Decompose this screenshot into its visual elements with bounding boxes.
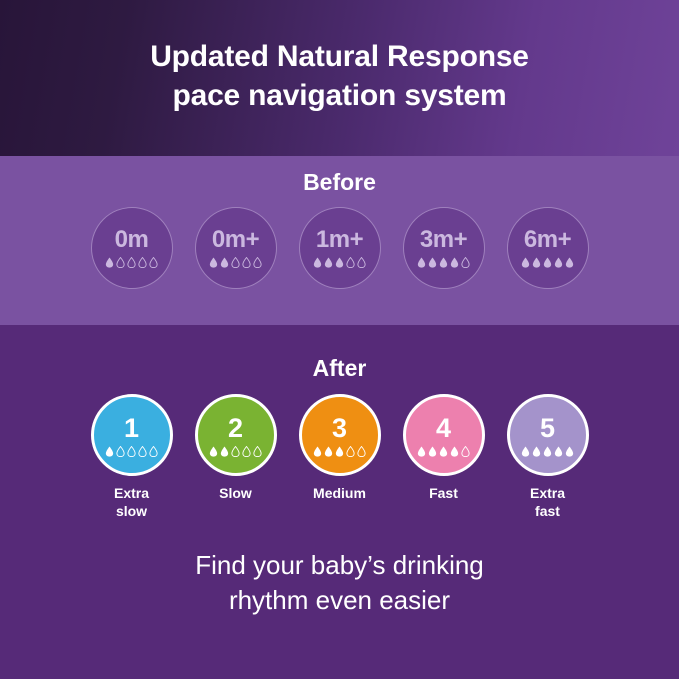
before-flow-rate-drops bbox=[521, 257, 574, 268]
droplet-filled-icon bbox=[335, 257, 344, 268]
before-flow-rate-drops bbox=[209, 257, 262, 268]
before-stage-5[interactable]: 6m+ bbox=[507, 207, 589, 289]
droplet-empty-icon bbox=[127, 257, 136, 268]
droplet-empty-icon bbox=[346, 257, 355, 268]
page-title-line-2: pace navigation system bbox=[150, 76, 529, 115]
droplet-filled-icon bbox=[105, 446, 114, 457]
before-flow-rate-drops bbox=[313, 257, 366, 268]
droplet-filled-icon bbox=[105, 257, 114, 268]
after-flow-list: 1Extraslow2Slow3Medium4Fast5Extrafast bbox=[0, 394, 679, 520]
before-stage-1[interactable]: 0m bbox=[91, 207, 173, 289]
after-stage-circle[interactable]: 2 bbox=[195, 394, 277, 476]
before-stage-age-label: 0m bbox=[115, 228, 149, 252]
before-stage-age-label: 6m+ bbox=[524, 228, 571, 252]
droplet-filled-icon bbox=[209, 446, 218, 457]
after-flow-rate-drops bbox=[209, 446, 262, 457]
droplet-empty-icon bbox=[242, 257, 251, 268]
droplet-empty-icon bbox=[357, 257, 366, 268]
droplet-empty-icon bbox=[253, 446, 262, 457]
after-stage-circle[interactable]: 3 bbox=[299, 394, 381, 476]
after-stage-circle[interactable]: 5 bbox=[507, 394, 589, 476]
after-stage-number-label: 4 bbox=[436, 415, 451, 442]
droplet-filled-icon bbox=[313, 257, 322, 268]
after-section: After 1Extraslow2Slow3Medium4Fast5Extraf… bbox=[0, 325, 679, 679]
after-stage-4[interactable]: 4Fast bbox=[403, 394, 485, 503]
before-stage-age-label: 1m+ bbox=[316, 228, 363, 252]
before-stage-circle[interactable]: 3m+ bbox=[403, 207, 485, 289]
droplet-filled-icon bbox=[335, 446, 344, 457]
footer-tagline-line-2: rhythm even easier bbox=[0, 583, 679, 618]
before-flow-list: 0m0m+1m+3m+6m+ bbox=[0, 207, 679, 289]
droplet-empty-icon bbox=[138, 257, 147, 268]
droplet-filled-icon bbox=[417, 446, 426, 457]
droplet-empty-icon bbox=[253, 257, 262, 268]
droplet-filled-icon bbox=[521, 446, 530, 457]
droplet-filled-icon bbox=[543, 446, 552, 457]
before-stage-age-label: 0m+ bbox=[212, 228, 259, 252]
after-stage-number-label: 2 bbox=[228, 415, 243, 442]
before-flow-rate-drops bbox=[417, 257, 470, 268]
after-stage-circle[interactable]: 4 bbox=[403, 394, 485, 476]
droplet-filled-icon bbox=[521, 257, 530, 268]
page-title-line-1: Updated Natural Response bbox=[150, 37, 529, 76]
droplet-empty-icon bbox=[231, 446, 240, 457]
after-stage-number-label: 5 bbox=[540, 415, 555, 442]
after-heading: After bbox=[0, 325, 679, 382]
before-heading: Before bbox=[0, 156, 679, 196]
droplet-empty-icon bbox=[127, 446, 136, 457]
after-flow-rate-drops bbox=[521, 446, 574, 457]
droplet-filled-icon bbox=[554, 257, 563, 268]
droplet-filled-icon bbox=[565, 446, 574, 457]
droplet-empty-icon bbox=[116, 257, 125, 268]
after-flow-rate-drops bbox=[313, 446, 366, 457]
after-stage-name-label: Medium bbox=[313, 485, 366, 503]
droplet-filled-icon bbox=[532, 257, 541, 268]
before-flow-rate-drops bbox=[105, 257, 158, 268]
droplet-empty-icon bbox=[231, 257, 240, 268]
after-stage-1[interactable]: 1Extraslow bbox=[91, 394, 173, 520]
droplet-filled-icon bbox=[450, 446, 459, 457]
before-stage-3[interactable]: 1m+ bbox=[299, 207, 381, 289]
droplet-empty-icon bbox=[149, 446, 158, 457]
before-stage-circle[interactable]: 1m+ bbox=[299, 207, 381, 289]
droplet-filled-icon bbox=[313, 446, 322, 457]
after-stage-name-label: Fast bbox=[429, 485, 458, 503]
droplet-filled-icon bbox=[220, 446, 229, 457]
before-stage-4[interactable]: 3m+ bbox=[403, 207, 485, 289]
after-stage-name-label: Slow bbox=[219, 485, 252, 503]
droplet-filled-icon bbox=[532, 446, 541, 457]
droplet-filled-icon bbox=[324, 257, 333, 268]
after-stage-name-label: Extraslow bbox=[114, 485, 149, 520]
after-flow-rate-drops bbox=[417, 446, 470, 457]
droplet-filled-icon bbox=[209, 257, 218, 268]
droplet-empty-icon bbox=[357, 446, 366, 457]
before-stage-2[interactable]: 0m+ bbox=[195, 207, 277, 289]
before-stage-circle[interactable]: 0m+ bbox=[195, 207, 277, 289]
before-stage-age-label: 3m+ bbox=[420, 228, 467, 252]
footer-tagline-line-1: Find your baby’s drinking bbox=[0, 548, 679, 583]
after-stage-name-label: Extrafast bbox=[530, 485, 565, 520]
droplet-empty-icon bbox=[242, 446, 251, 457]
page-title: Updated Natural Response pace navigation… bbox=[150, 37, 529, 119]
droplet-filled-icon bbox=[439, 257, 448, 268]
droplet-filled-icon bbox=[428, 257, 437, 268]
header-banner: Updated Natural Response pace navigation… bbox=[0, 0, 679, 156]
after-stage-circle[interactable]: 1 bbox=[91, 394, 173, 476]
droplet-empty-icon bbox=[461, 257, 470, 268]
droplet-filled-icon bbox=[543, 257, 552, 268]
droplet-filled-icon bbox=[439, 446, 448, 457]
before-section: Before 0m0m+1m+3m+6m+ bbox=[0, 156, 679, 325]
footer-tagline: Find your baby’s drinking rhythm even ea… bbox=[0, 548, 679, 617]
after-stage-number-label: 3 bbox=[332, 415, 347, 442]
droplet-filled-icon bbox=[450, 257, 459, 268]
droplet-empty-icon bbox=[138, 446, 147, 457]
droplet-filled-icon bbox=[565, 257, 574, 268]
droplet-filled-icon bbox=[324, 446, 333, 457]
droplet-filled-icon bbox=[220, 257, 229, 268]
droplet-empty-icon bbox=[116, 446, 125, 457]
droplet-empty-icon bbox=[346, 446, 355, 457]
after-flow-rate-drops bbox=[105, 446, 158, 457]
droplet-filled-icon bbox=[417, 257, 426, 268]
before-stage-circle[interactable]: 0m bbox=[91, 207, 173, 289]
droplet-empty-icon bbox=[461, 446, 470, 457]
droplet-filled-icon bbox=[554, 446, 563, 457]
after-stage-2[interactable]: 2Slow bbox=[195, 394, 277, 503]
before-stage-circle[interactable]: 6m+ bbox=[507, 207, 589, 289]
after-stage-3[interactable]: 3Medium bbox=[299, 394, 381, 503]
droplet-empty-icon bbox=[149, 257, 158, 268]
droplet-filled-icon bbox=[428, 446, 437, 457]
after-stage-5[interactable]: 5Extrafast bbox=[507, 394, 589, 520]
after-stage-number-label: 1 bbox=[124, 415, 139, 442]
